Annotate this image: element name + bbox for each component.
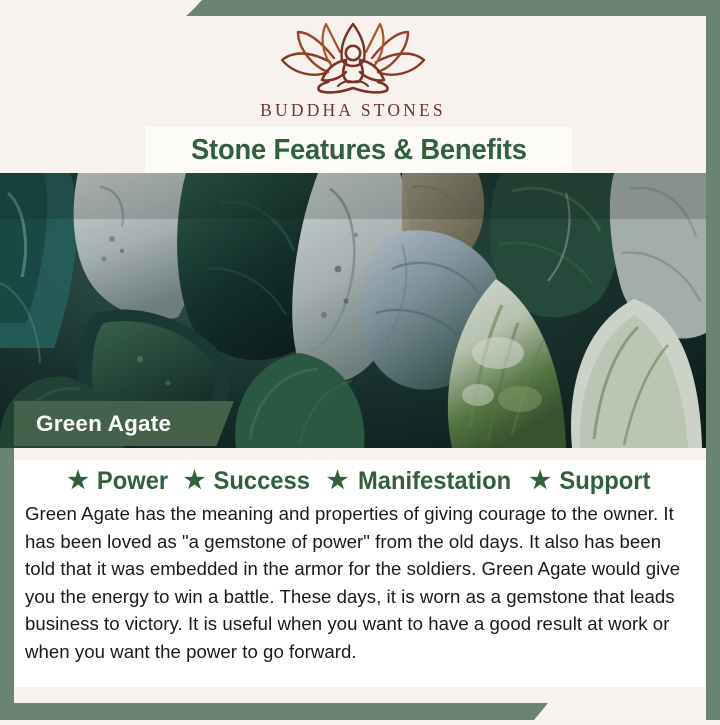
stone-name-banner: Green Agate bbox=[14, 401, 234, 446]
page-title: Stone Features & Benefits bbox=[191, 134, 527, 167]
feature-item-manifestation: ★ Manifestation bbox=[327, 467, 516, 496]
feature-label: Success bbox=[214, 467, 310, 496]
feature-item-support: ★ Support bbox=[529, 467, 652, 496]
stone-name-label: Green Agate bbox=[36, 401, 171, 446]
star-icon: ★ bbox=[529, 469, 551, 493]
feature-label: Power bbox=[97, 467, 168, 496]
feature-item-success: ★ Success bbox=[184, 467, 313, 496]
feature-label: Manifestation bbox=[358, 467, 511, 496]
description-text: Green Agate has the meaning and properti… bbox=[25, 500, 695, 665]
panel-top-strip bbox=[14, 448, 706, 460]
feature-list: ★ Power ★ Success ★ Manifestation ★ Supp… bbox=[14, 462, 706, 500]
brand-name: BUDDHA STONES bbox=[260, 100, 446, 121]
feature-label: Support bbox=[559, 467, 650, 496]
content-panel: ★ Power ★ Success ★ Manifestation ★ Supp… bbox=[14, 448, 706, 687]
lotus-meditation-icon bbox=[268, 22, 438, 94]
feature-item-power: ★ Power bbox=[67, 467, 170, 496]
star-icon: ★ bbox=[327, 469, 349, 493]
page-title-plaque: Stone Features & Benefits bbox=[145, 127, 572, 173]
star-icon: ★ bbox=[67, 469, 89, 493]
star-icon: ★ bbox=[184, 469, 206, 493]
